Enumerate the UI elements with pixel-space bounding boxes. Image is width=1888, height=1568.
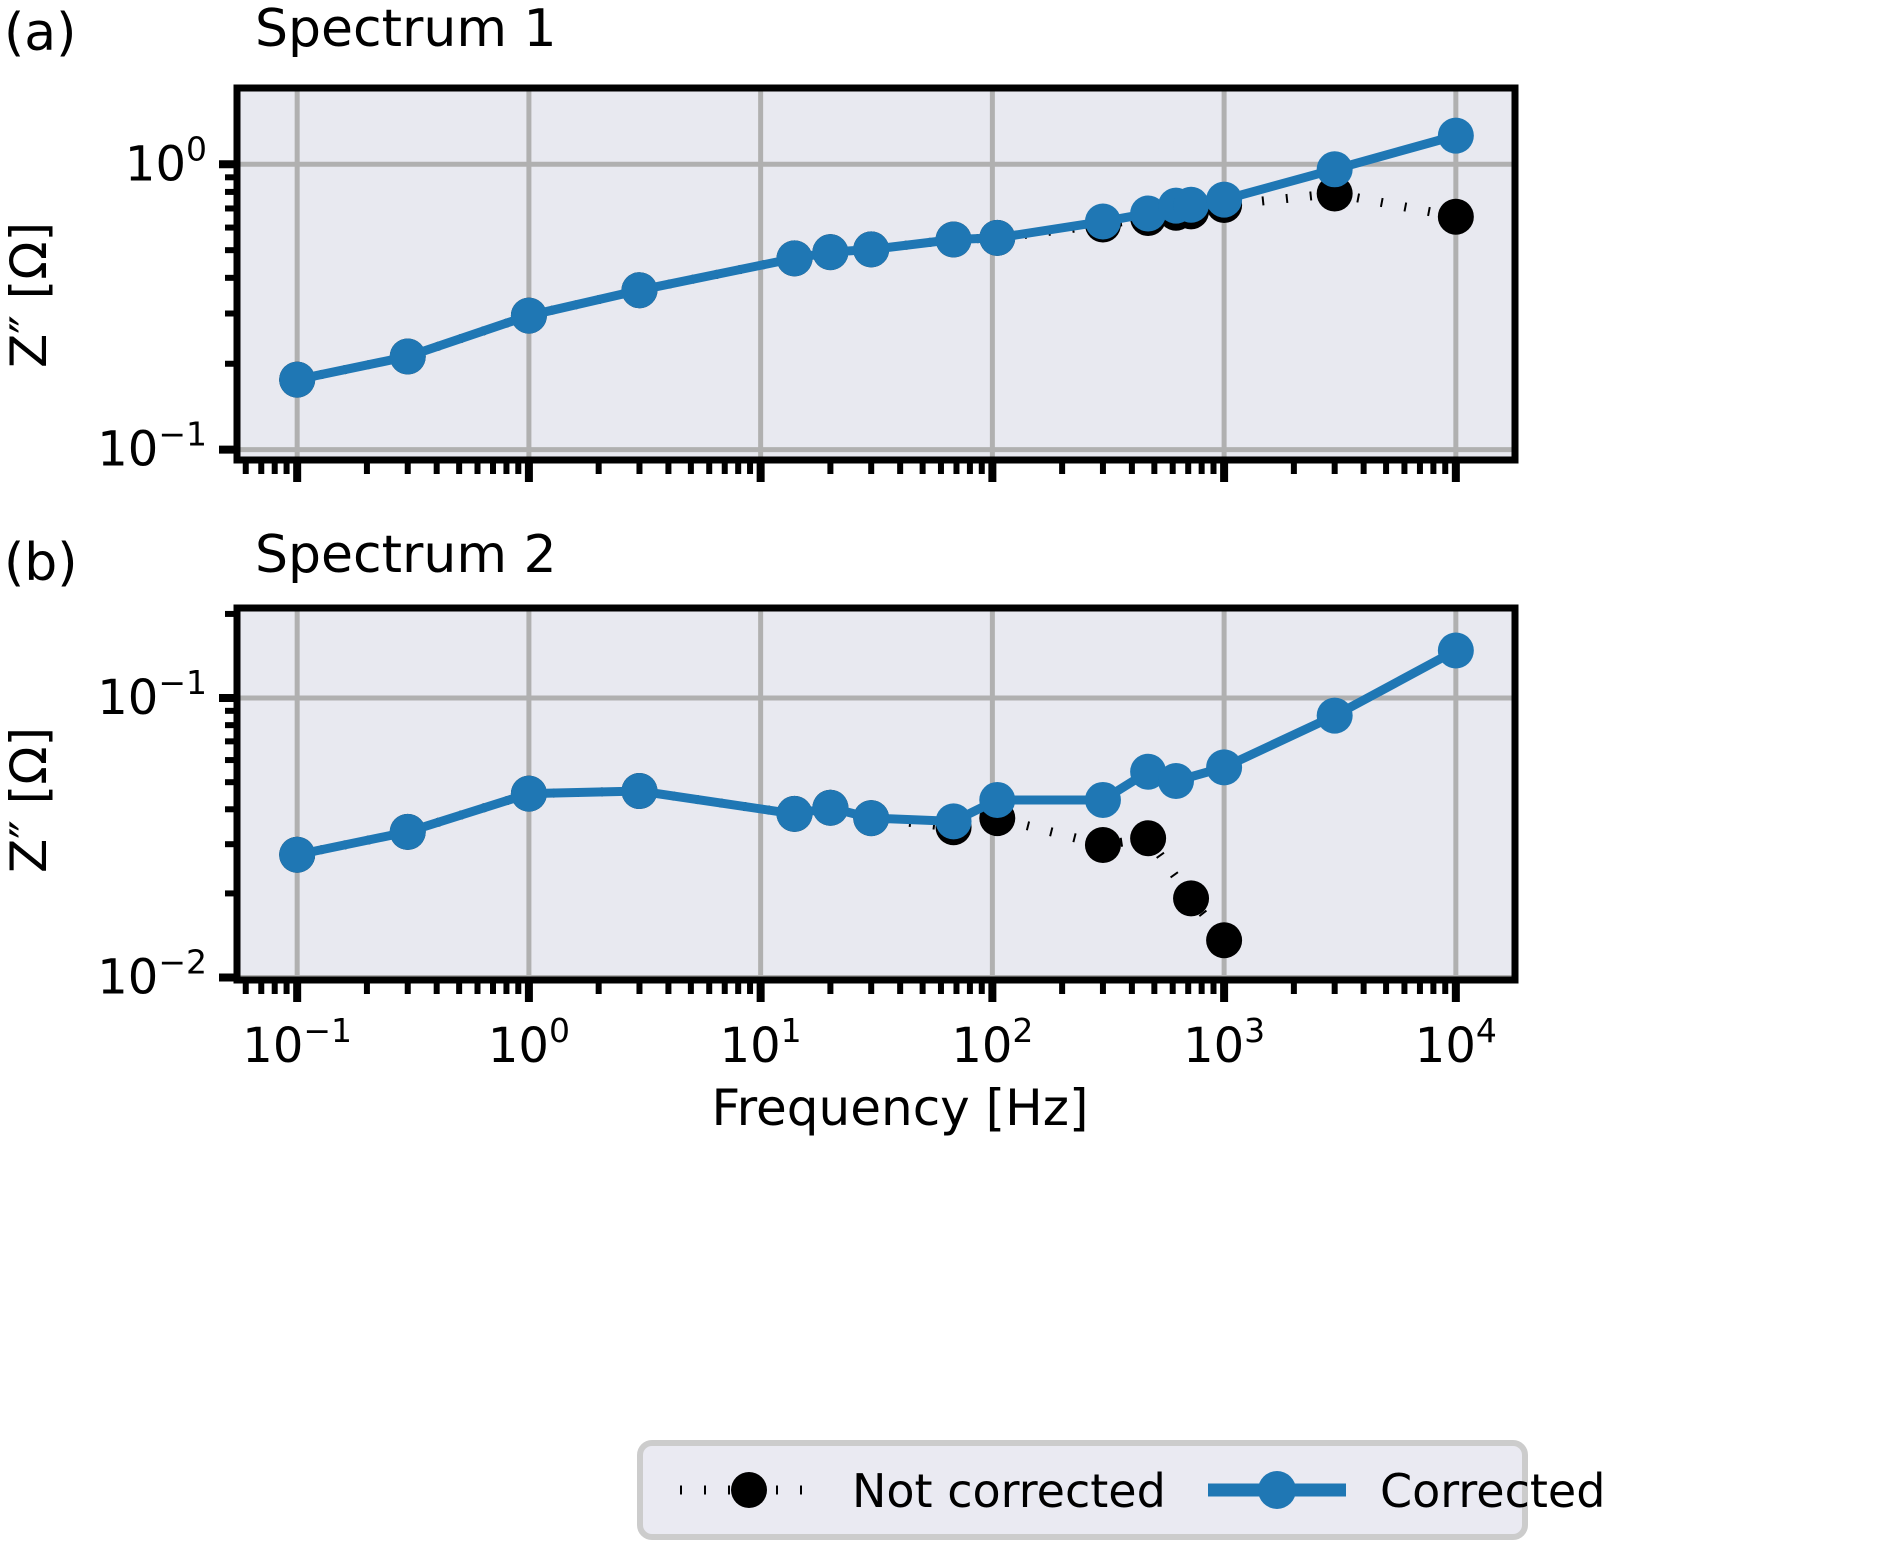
panel-a-ylabel-text: Z″ [Ω] <box>0 222 58 368</box>
data-point-corrected <box>1317 151 1353 187</box>
data-point-corrected <box>1438 118 1474 154</box>
panel-b-ylabel-text: Z″ [Ω] <box>0 727 58 873</box>
data-point-not-corrected <box>1173 880 1209 916</box>
data-point-corrected <box>812 234 848 270</box>
data-point-not-corrected <box>1206 922 1242 958</box>
data-point-corrected <box>853 231 889 267</box>
data-point-corrected <box>1206 749 1242 785</box>
data-point-corrected <box>390 814 426 850</box>
data-point-corrected <box>279 362 315 398</box>
panel-a-title: Spectrum 1 <box>255 0 557 59</box>
panel-b-axes: 10−110−2 <box>97 608 1515 1006</box>
data-point-corrected <box>1317 698 1353 734</box>
panel-a-letter: (a) <box>4 3 76 63</box>
data-point-corrected <box>390 339 426 375</box>
data-point-corrected <box>1438 632 1474 668</box>
data-point-corrected <box>936 221 972 257</box>
data-point-corrected <box>1206 182 1242 218</box>
data-point-corrected <box>511 298 547 334</box>
data-point-corrected <box>936 803 972 839</box>
data-point-corrected <box>979 220 1015 256</box>
data-point-corrected <box>1158 763 1194 799</box>
legend[interactable]: Not correctedCorrected <box>640 1443 1605 1537</box>
legend-label-corrected: Corrected <box>1380 1464 1605 1518</box>
data-point-corrected <box>1085 204 1121 240</box>
data-point-not-corrected <box>1130 820 1166 856</box>
data-point-corrected <box>1085 782 1121 818</box>
plot-background <box>237 88 1515 460</box>
legend-marker-corrected <box>1258 1471 1296 1509</box>
panel-a-ylabel: Z″ [Ω] <box>0 222 58 368</box>
data-point-corrected <box>812 790 848 826</box>
data-point-corrected <box>279 837 315 873</box>
data-point-corrected <box>621 773 657 809</box>
legend-label-not-corrected: Not corrected <box>852 1464 1166 1518</box>
x-axis-label: Frequency [Hz] <box>711 1079 1088 1137</box>
panel-b-title: Spectrum 2 <box>255 525 557 585</box>
data-point-corrected <box>979 782 1015 818</box>
data-point-corrected <box>511 776 547 812</box>
panel-b-letter: (b) <box>4 533 78 593</box>
panel-b-ylabel: Z″ [Ω] <box>0 727 58 873</box>
figure-root: (a) Spectrum 1 Z″ [Ω] 10010−1 (b) Spectr… <box>0 0 1888 1568</box>
data-point-corrected <box>777 240 813 276</box>
data-point-corrected <box>621 272 657 308</box>
data-point-not-corrected <box>1085 827 1121 863</box>
data-point-not-corrected <box>1438 199 1474 235</box>
data-point-corrected <box>1173 187 1209 223</box>
legend-marker-not-corrected <box>731 1472 767 1508</box>
plot-background <box>237 608 1515 980</box>
panel-a-axes: 10010−1 <box>97 88 1515 482</box>
data-point-corrected <box>853 800 889 836</box>
data-point-corrected <box>777 796 813 832</box>
